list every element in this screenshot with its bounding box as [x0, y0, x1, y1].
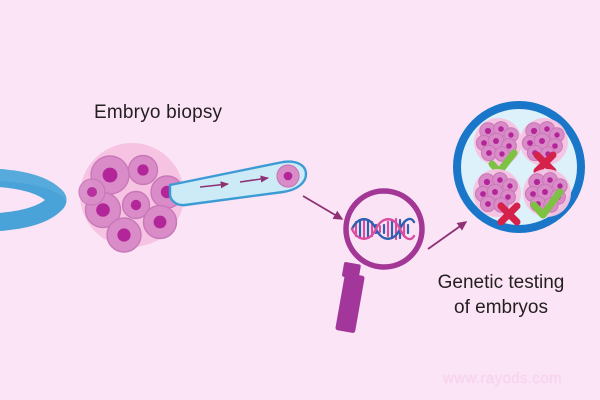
embryo-biopsy-illustration: [0, 0, 600, 400]
illustration-canvas: Embryo biopsy Genetic testing of embryos…: [0, 0, 600, 400]
culture-dish-results: [457, 105, 581, 229]
watermark: www.rayods.com: [443, 370, 562, 387]
extracted-cell-icon: [277, 165, 299, 187]
label-genetic-testing: Genetic testing of embryos: [434, 270, 568, 320]
dish-embryo-bottom-right: [523, 169, 571, 217]
label-embryo-biopsy: Embryo biopsy: [94, 102, 222, 124]
